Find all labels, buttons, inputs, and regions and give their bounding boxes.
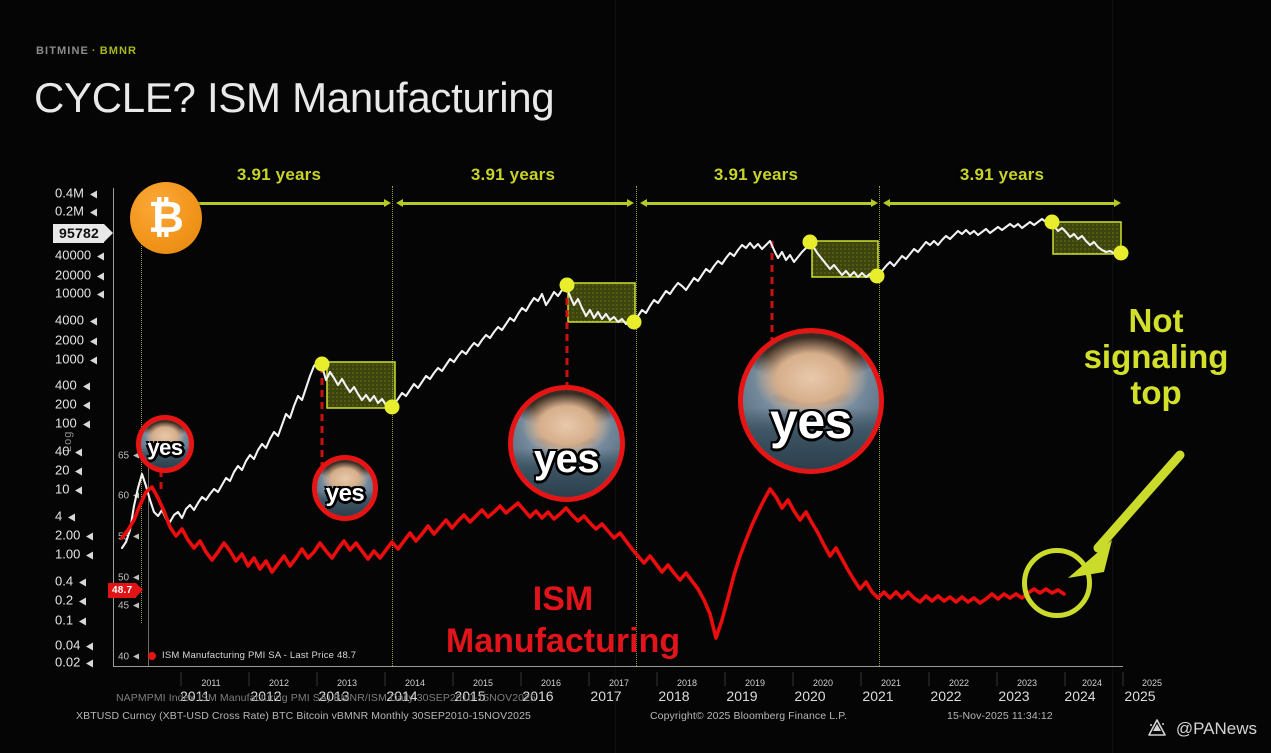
x-tick-small: 2018 (677, 678, 697, 688)
x-tick-year: 2017 (590, 688, 621, 704)
top-marker-3 (803, 235, 818, 250)
bottom-marker-3 (870, 269, 885, 284)
top-signal-lines (161, 241, 772, 500)
meme-label: yes (317, 480, 373, 508)
x-tick-small: 2021 (881, 678, 901, 688)
x-tick-year: 2025 (1124, 688, 1155, 704)
footer-timestamp: 15-Nov-2025 11:34:12 (947, 710, 1053, 722)
not-signaling-line-1: Not (1050, 303, 1262, 339)
bottom-marker-4 (1114, 246, 1129, 261)
bottom-marker-1 (385, 400, 400, 415)
x-tick-small: 2019 (745, 678, 765, 688)
x-tick-year: 2020 (794, 688, 825, 704)
x-tick-small: 2017 (609, 678, 629, 688)
footer-line-top: NAPMPMI Index ISM Manufacturing PMI SA) … (116, 692, 536, 704)
meme-label: yes (743, 392, 879, 450)
cycle-top-markers (315, 215, 1129, 415)
x-tick-year: 2021 (862, 688, 893, 704)
legend-text: ISM Manufacturing PMI SA - Last Price 48… (162, 650, 356, 661)
x-tick-small: 2013 (337, 678, 357, 688)
bitcoin-logo-icon: ₿ (130, 182, 202, 254)
top-marker-2 (560, 278, 575, 293)
x-tick-small: 2023 (1017, 678, 1037, 688)
x-tick-small: 2015 (473, 678, 493, 688)
drawdown-box-4 (1053, 222, 1121, 254)
ism-label-line-1: ISM (418, 578, 708, 620)
yes-meme-2: yes (312, 455, 378, 521)
x-tick-small: 2011 (201, 678, 220, 688)
footer-copyright: Copyright© 2025 Bloomberg Finance L.P. (650, 710, 847, 722)
x-tick-small: 2020 (813, 678, 833, 688)
chart-legend: ISM Manufacturing PMI SA - Last Price 48… (148, 650, 356, 661)
watermark: @PANews (1145, 717, 1257, 741)
legend-marker-icon (148, 652, 156, 660)
ism-series-annotation: ISM Manufacturing (418, 578, 708, 662)
x-tick-year: 2024 (1064, 688, 1095, 704)
watermark-handle: @PANews (1176, 719, 1257, 739)
yes-meme-1: yes (136, 415, 194, 473)
not-signaling-circle (1022, 548, 1092, 618)
yes-meme-3: yes (508, 385, 625, 502)
meme-label: yes (513, 437, 620, 482)
not-signaling-arrow-icon (1068, 455, 1180, 578)
x-tick-year: 2019 (726, 688, 757, 704)
top-marker-1 (315, 357, 330, 372)
x-tick-year: 2022 (930, 688, 961, 704)
footer-line-bottom: XBTUSD Curncy (XBT-USD Cross Rate) BTC B… (76, 710, 531, 722)
not-signaling-line-2: signaling (1050, 339, 1262, 375)
x-tick-small: 2012 (269, 678, 289, 688)
btc-price-line (122, 219, 1122, 548)
bottom-marker-2 (627, 315, 642, 330)
x-tick-small: 2014 (405, 678, 425, 688)
x-tick-small: 2025 (1142, 678, 1162, 688)
x-tick-small: 2022 (949, 678, 969, 688)
x-tick-year: 2018 (658, 688, 689, 704)
x-tick-year: 2023 (998, 688, 1029, 704)
not-signaling-annotation: Not signaling top (1050, 303, 1262, 411)
ism-label-line-2: Manufacturing (418, 620, 708, 662)
panews-logo-icon (1145, 717, 1169, 741)
x-tick-small: 2016 (541, 678, 561, 688)
bitcoin-symbol: ₿ (130, 182, 202, 254)
yes-meme-4: yes (738, 328, 884, 474)
x-gridlines (181, 672, 1123, 686)
not-signaling-line-3: top (1050, 375, 1262, 411)
top-marker-4 (1045, 215, 1060, 230)
drawdown-boxes (327, 222, 1121, 408)
chart-screenshot: BITMINE·BMNR CYCLE? ISM Manufacturing 3.… (0, 0, 1271, 753)
meme-label: yes (141, 435, 189, 461)
x-tick-small: 2024 (1082, 678, 1102, 688)
